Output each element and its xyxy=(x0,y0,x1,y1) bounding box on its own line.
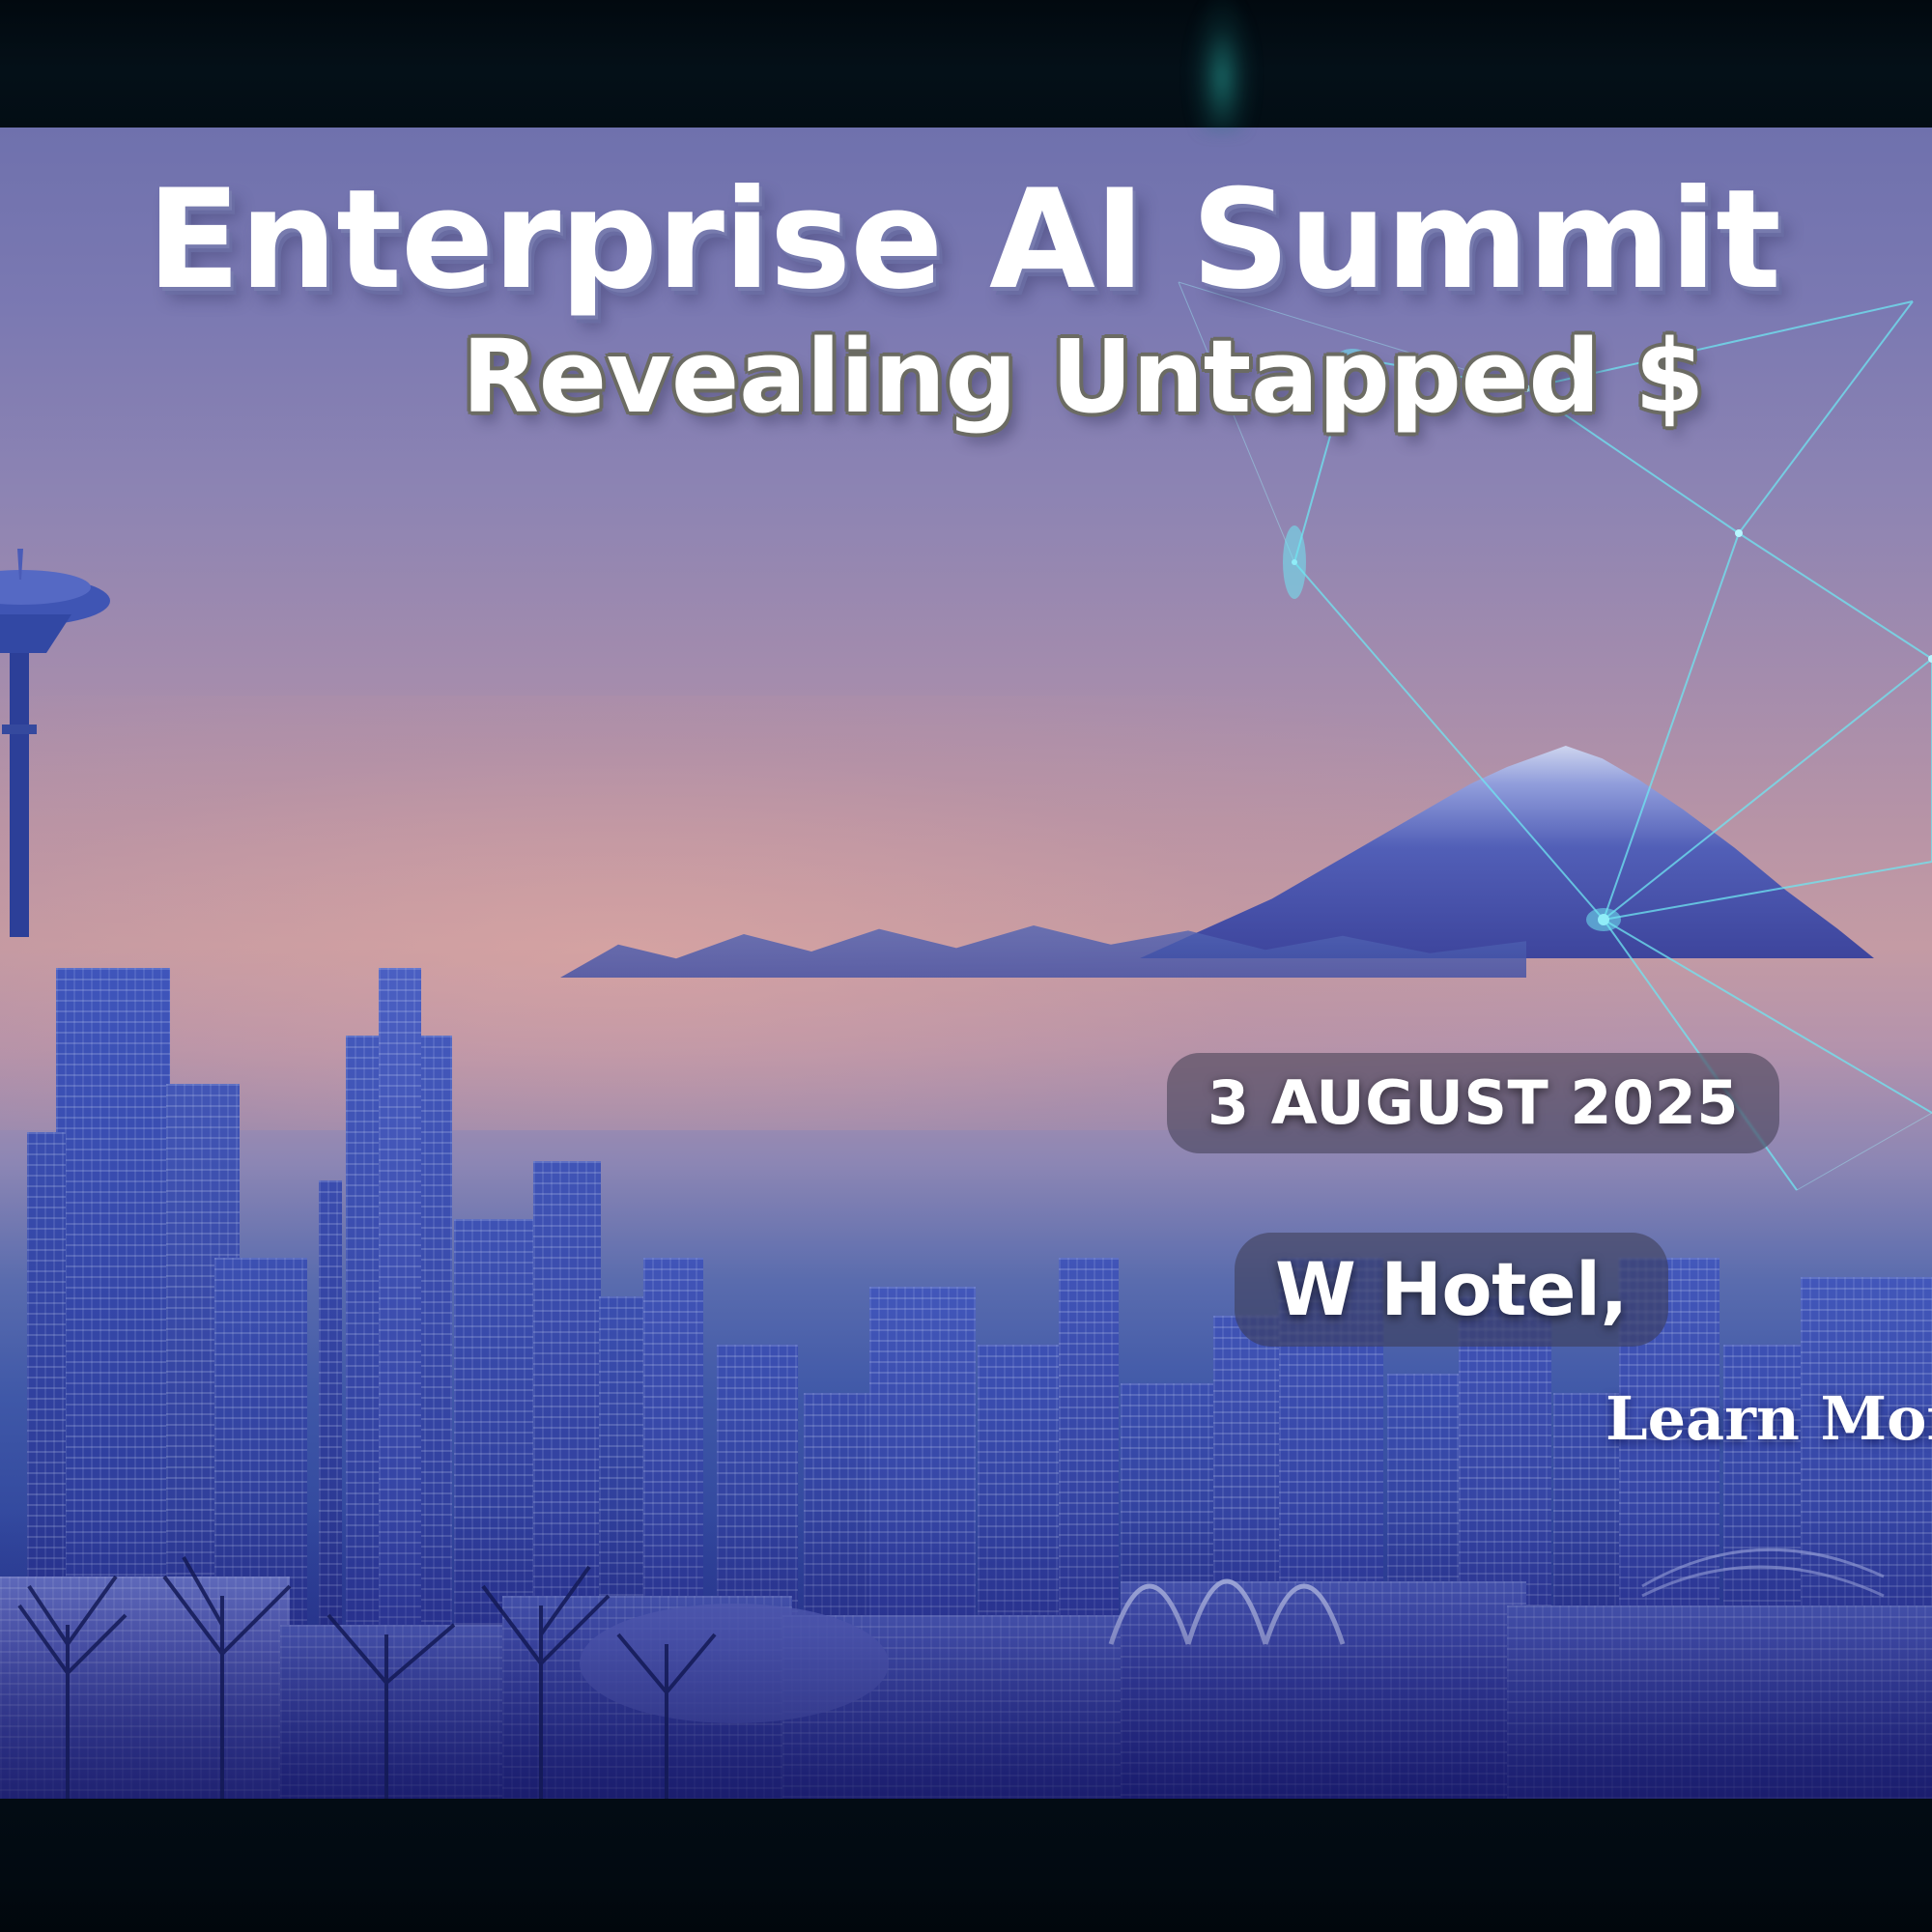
page-subtitle: Revealing Untapped $ xyxy=(462,327,1704,427)
event-banner: Enterprise AI Summit Revealing Untapped … xyxy=(0,0,1932,1932)
event-date-text: 3 AUGUST 2025 xyxy=(1207,1073,1739,1133)
event-venue-text: W Hotel, xyxy=(1275,1253,1628,1326)
banner-text-layer: Enterprise AI Summit Revealing Untapped … xyxy=(0,0,1932,1932)
learn-more-link[interactable]: Learn More xyxy=(1605,1389,1932,1449)
page-title: Enterprise AI Summit xyxy=(147,172,1780,309)
event-venue-badge: W Hotel, xyxy=(1235,1233,1668,1347)
event-date-badge: 3 AUGUST 2025 xyxy=(1167,1053,1779,1153)
